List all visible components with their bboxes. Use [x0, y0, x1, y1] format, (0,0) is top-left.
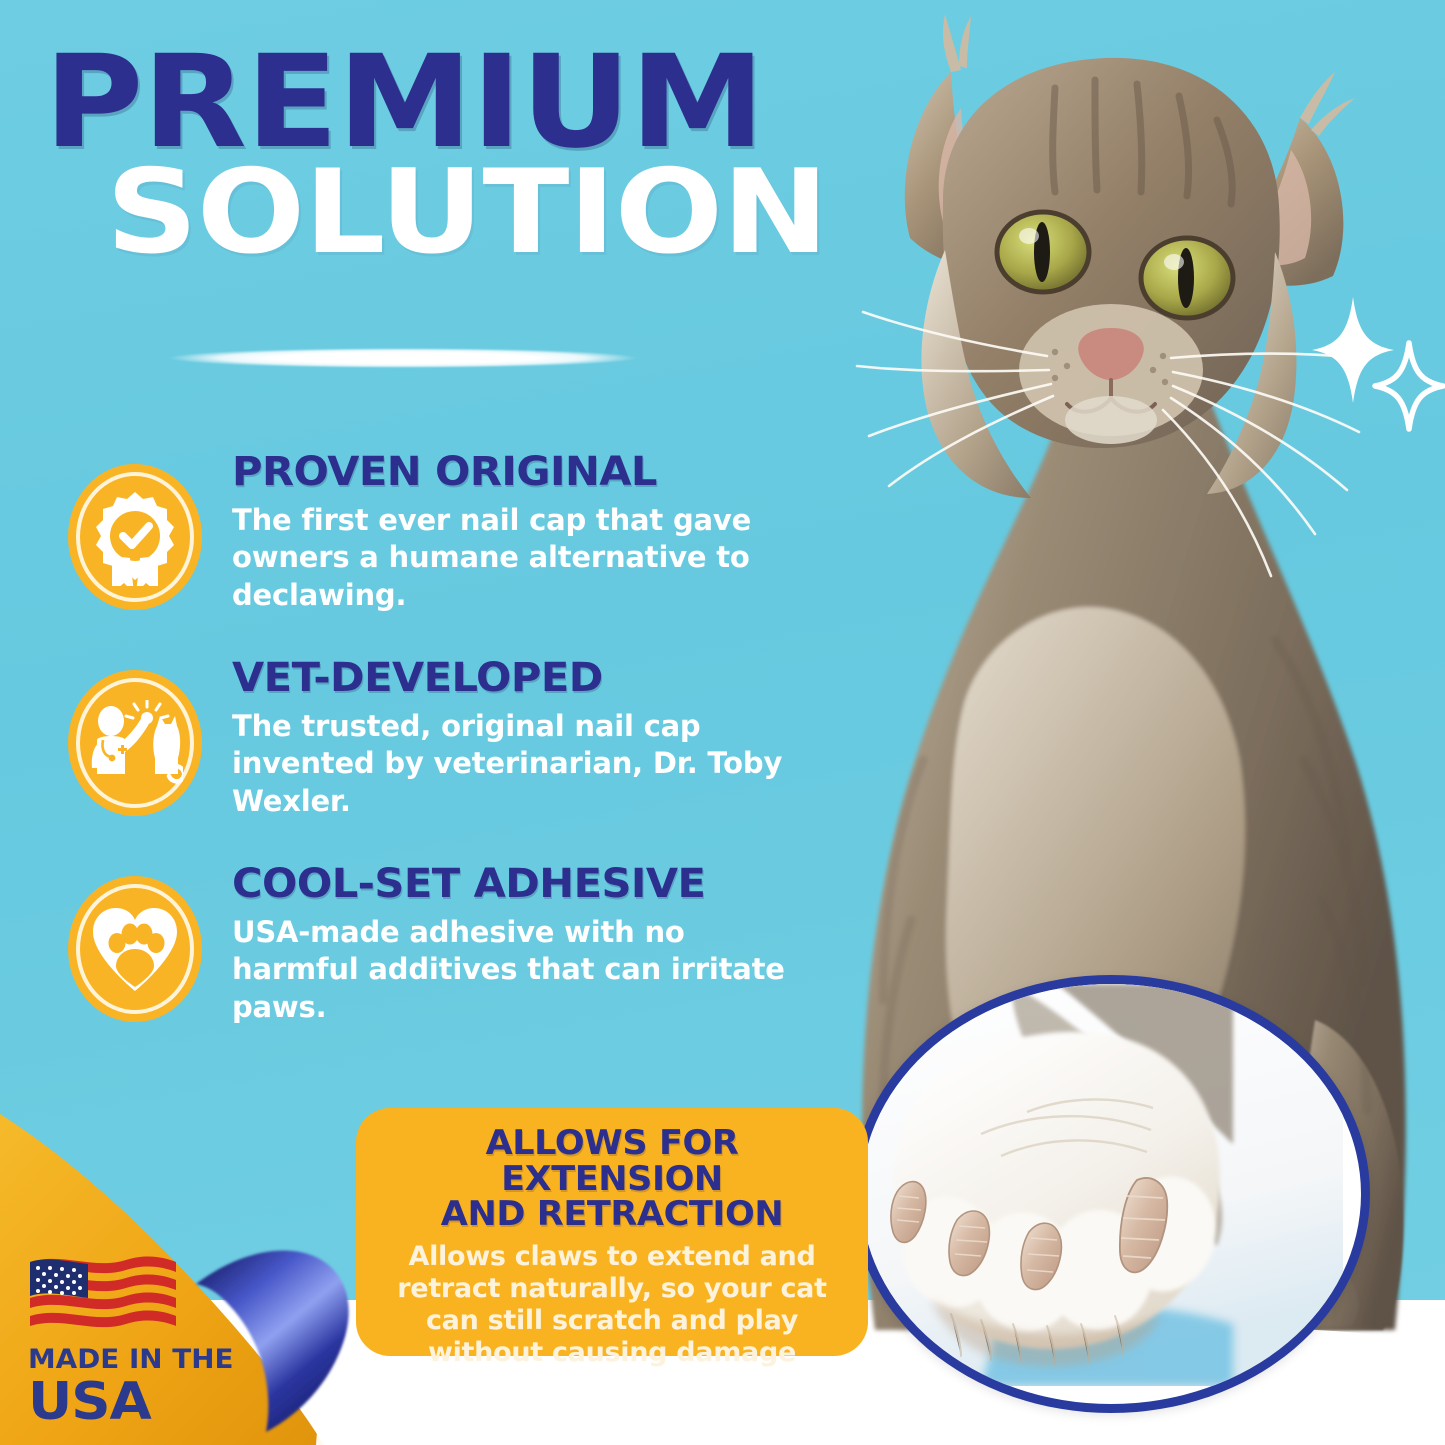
- us-flag-icon: [28, 1248, 178, 1334]
- headline-block: PREMIUM SOLUTION: [44, 48, 844, 268]
- headline-line-solution: SOLUTION: [106, 158, 918, 268]
- callout-description: Allows claws to extend and retract natur…: [378, 1241, 846, 1368]
- extension-retraction-callout: ALLOWS FOR EXTENSION AND RETRACTION Allo…: [356, 1108, 868, 1356]
- feature-description: The first ever nail cap that gave owners…: [232, 502, 807, 615]
- heart-paw-icon: [60, 870, 210, 1028]
- cat-paw-with-nail-caps-photo: [852, 975, 1370, 1413]
- callout-title: ALLOWS FOR EXTENSION AND RETRACTION: [371, 1126, 853, 1233]
- callout-title-line-2: AND RETRACTION: [371, 1197, 853, 1233]
- sparkle-star-outline-icon: [1372, 340, 1445, 432]
- made-in-usa-badge: MADE IN THE USA: [28, 1248, 238, 1430]
- feature-item-cool-set-adhesive: COOL-SET ADHESIVE USA-made adhesive with…: [60, 860, 860, 1028]
- made-in-usa-line-1: MADE IN THE: [28, 1346, 244, 1373]
- feature-description: The trusted, original nail cap invented …: [232, 708, 807, 821]
- feature-title: COOL-SET ADHESIVE: [232, 864, 885, 905]
- vet-high-five-cat-icon: [60, 664, 210, 822]
- callout-title-line-1: ALLOWS FOR EXTENSION: [371, 1126, 853, 1197]
- infographic-canvas: PREMIUM SOLUTION PROVEN ORIGINAL The fir…: [0, 0, 1445, 1445]
- feature-title: PROVEN ORIGINAL: [232, 452, 885, 493]
- award-ribbon-check-icon: [60, 458, 210, 616]
- lens-divider: [168, 348, 638, 368]
- feature-description: USA-made adhesive with no harmful additi…: [232, 914, 807, 1027]
- feature-item-vet-developed: VET-DEVELOPED The trusted, original nail…: [60, 654, 860, 822]
- headline-line-premium: PREMIUM: [44, 48, 892, 158]
- made-in-usa-line-2: USA: [28, 1375, 248, 1430]
- feature-item-proven-original: PROVEN ORIGINAL The first ever nail cap …: [60, 448, 860, 616]
- feature-list: PROVEN ORIGINAL The first ever nail cap …: [60, 448, 860, 1066]
- feature-title: VET-DEVELOPED: [232, 658, 885, 699]
